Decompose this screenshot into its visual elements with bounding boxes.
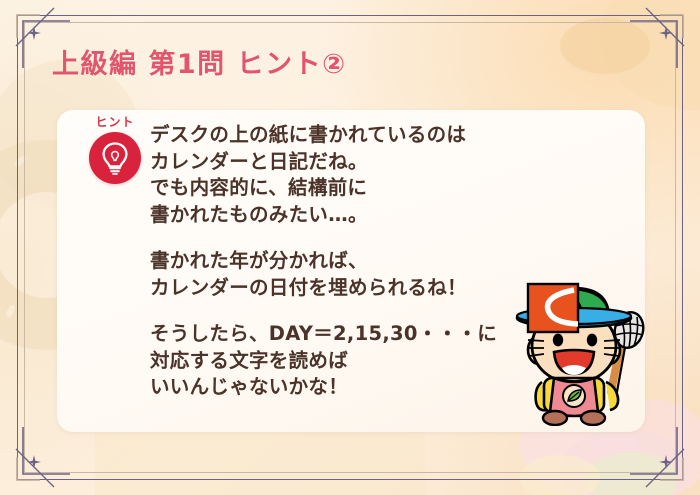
hint-paragraph-2: 書かれた年が分かれば、 カレンダーの日付を埋められるね！ <box>150 248 550 301</box>
hint-line: そうしたら、DAY＝2,15,30・・・に <box>150 321 550 348</box>
hint-line: いいんじゃないかな！ <box>150 374 550 401</box>
page-title: 上級編 第1問 ヒント② <box>52 42 346 81</box>
hint-paragraph-1: デスクの上の紙に書かれているのは カレンダーと日記だね。 でも内容的に、結構前に… <box>150 122 550 228</box>
hint-line: 対応する文字を読めば <box>150 348 550 375</box>
hint-line: でも内容的に、結構前に <box>150 175 550 202</box>
hint-line: 書かれたものみたい…。 <box>150 202 550 229</box>
hint-badge: ヒント <box>80 116 150 184</box>
hint-line: カレンダーの日付を埋められるね！ <box>150 275 550 302</box>
chef-cat-mascot <box>508 278 660 426</box>
hint-line: デスクの上の紙に書かれているのは <box>150 122 550 149</box>
hint-badge-label: ヒント <box>80 116 150 128</box>
page-title-text: 上級編 第1問 ヒント② <box>52 49 346 80</box>
hint-line: 書かれた年が分かれば、 <box>150 248 550 275</box>
watermark-pastry-topright-2 <box>560 18 650 74</box>
hint-line: カレンダーと日記だね。 <box>150 149 550 176</box>
lightbulb-icon <box>89 132 141 184</box>
hint-body-text: デスクの上の紙に書かれているのは カレンダーと日記だね。 でも内容的に、結構前に… <box>150 122 550 401</box>
watermark-leaf-b <box>520 455 600 495</box>
slide-root: 上級編 第1問 ヒント② ヒント デスクの上の紙に書かれているのは カレンダーと… <box>0 0 700 495</box>
hint-paragraph-3: そうしたら、DAY＝2,15,30・・・に 対応する文字を読めば いいんじゃない… <box>150 321 550 401</box>
